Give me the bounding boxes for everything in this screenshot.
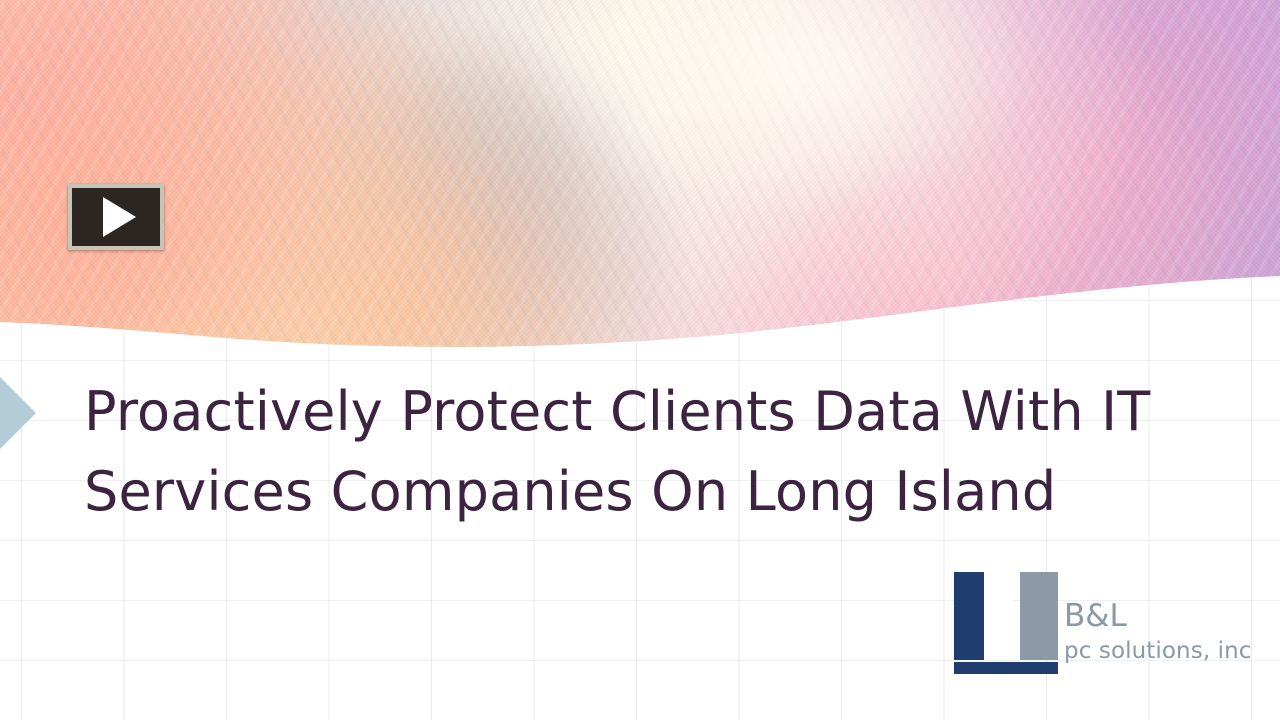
video-play-button[interactable] [68,184,164,250]
company-logo: B&L pc solutions, inc [952,570,1248,680]
bl-monogram-icon [952,570,1060,674]
logo-tagline: pc solutions, inc [1064,638,1252,664]
play-triangle-icon [103,197,136,237]
header-banner-image [0,0,1280,350]
logo-name: B&L [1064,600,1127,632]
triangle-right-icon [0,377,36,449]
logo-wordmark: B&L pc solutions, inc [1064,570,1248,674]
slide-title: Proactively Protect Clients Data With IT… [84,372,1194,532]
banner-highlight-bloom [486,0,1075,235]
presentation-slide: Proactively Protect Clients Data With IT… [0,0,1280,720]
